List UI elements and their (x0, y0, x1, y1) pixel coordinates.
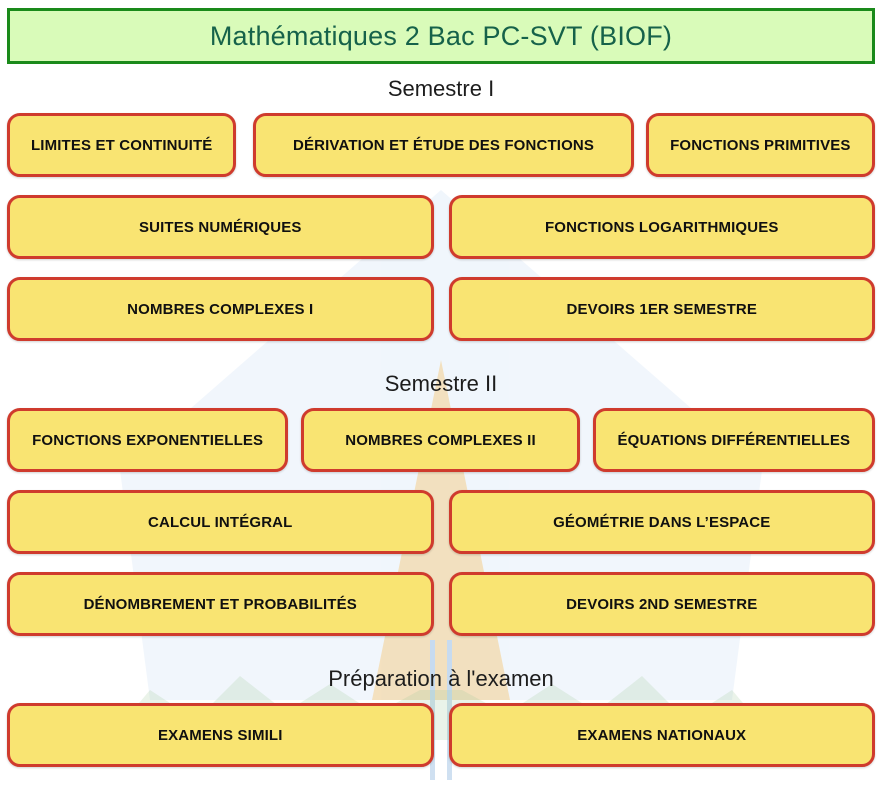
topic-equations-differentielles[interactable]: ÉQUATIONS DIFFÉRENTIELLES (593, 408, 875, 472)
button-row-s1-r2: SUITES NUMÉRIQUES FONCTIONS LOGARITHMIQU… (5, 195, 877, 259)
button-row-s2-r1: FONCTIONS EXPONENTIELLES NOMBRES COMPLEX… (5, 408, 877, 472)
button-row-exam-r1: EXAMENS SIMILI EXAMENS NATIONAUX (5, 703, 877, 767)
button-row-s1-r3: NOMBRES COMPLEXES I DEVOIRS 1ER SEMESTRE (5, 277, 877, 341)
topic-fonctions-exponentielles[interactable]: FONCTIONS EXPONENTIELLES (7, 408, 288, 472)
topic-fonctions-primitives[interactable]: FONCTIONS PRIMITIVES (646, 113, 875, 177)
topic-derivation-et-etude-des-fonctions[interactable]: DÉRIVATION ET ÉTUDE DES FONCTIONS (253, 113, 633, 177)
topic-geometrie-dans-l-espace[interactable]: GÉOMÉTRIE DANS L’ESPACE (449, 490, 876, 554)
page-title-banner: Mathématiques 2 Bac PC-SVT (BIOF) (7, 8, 875, 64)
section-heading-semestre-2: Semestre II (5, 359, 877, 408)
topic-examens-nationaux[interactable]: EXAMENS NATIONAUX (449, 703, 876, 767)
topic-limites-et-continuite[interactable]: LIMITES ET CONTINUITÉ (7, 113, 236, 177)
section-heading-semestre-1: Semestre I (5, 64, 877, 113)
section-heading-preparation-examen: Préparation à l'examen (5, 654, 877, 703)
button-row-s2-r2: CALCUL INTÉGRAL GÉOMÉTRIE DANS L’ESPACE (5, 490, 877, 554)
topic-suites-numeriques[interactable]: SUITES NUMÉRIQUES (7, 195, 434, 259)
topic-fonctions-logarithmiques[interactable]: FONCTIONS LOGARITHMIQUES (449, 195, 876, 259)
topic-denombrement-et-probabilites[interactable]: DÉNOMBREMENT ET PROBABILITÉS (7, 572, 434, 636)
topic-devoirs-1er-semestre[interactable]: DEVOIRS 1ER SEMESTRE (449, 277, 876, 341)
button-row-s1-r1: LIMITES ET CONTINUITÉ DÉRIVATION ET ÉTUD… (5, 113, 877, 177)
course-index-page: Mathématiques 2 Bac PC-SVT (BIOF) Semest… (0, 0, 882, 800)
topic-examens-simili[interactable]: EXAMENS SIMILI (7, 703, 434, 767)
topic-calcul-integral[interactable]: CALCUL INTÉGRAL (7, 490, 434, 554)
topic-nombres-complexes-ii[interactable]: NOMBRES COMPLEXES II (301, 408, 579, 472)
page-title: Mathématiques 2 Bac PC-SVT (BIOF) (210, 21, 672, 52)
topic-nombres-complexes-i[interactable]: NOMBRES COMPLEXES I (7, 277, 434, 341)
button-row-s2-r3: DÉNOMBREMENT ET PROBABILITÉS DEVOIRS 2ND… (5, 572, 877, 636)
topic-devoirs-2nd-semestre[interactable]: DEVOIRS 2ND SEMESTRE (449, 572, 876, 636)
